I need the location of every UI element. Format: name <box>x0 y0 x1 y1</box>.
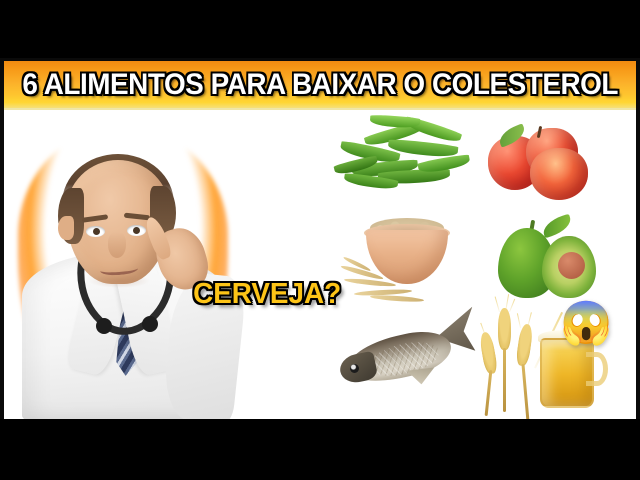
food-label-oats: Aveia <box>340 208 341 209</box>
food-label-beer: Cerveja <box>474 302 475 303</box>
food-label-okra: Quiabo <box>334 116 335 117</box>
letterbox-bottom-bar <box>0 419 640 480</box>
food-label-fish: Peixe <box>334 306 335 307</box>
food-label-avocado: Abacate <box>494 214 495 215</box>
shocked-face-emoji: 😱 <box>560 302 612 344</box>
youtube-thumbnail: 6 ALIMENTOS PARA BAIXAR O COLESTEROL <box>0 0 640 480</box>
food-item-oats: Aveia <box>340 208 456 306</box>
avocado-leaf-icon <box>540 214 573 238</box>
food-item-apples: Maca <box>486 118 598 198</box>
beer-mug-handle <box>586 352 608 386</box>
food-item-okra: Quiabo <box>334 116 474 198</box>
page-title: 6 ALIMENTOS PARA BAIXAR O COLESTEROL <box>22 68 618 102</box>
thumbnail-stage: Clinica saude Dr. Diego Lima Cardiologis… <box>4 110 636 419</box>
avocado-pit <box>558 252 585 279</box>
food-item-fish: Peixe <box>334 306 478 400</box>
food-collage: Quiabo Maca Aveia <box>4 110 636 419</box>
food-item-beer: 😱 Cerveja <box>474 302 624 414</box>
food-label-apples: Maca <box>486 118 487 119</box>
letterbox-top-bar <box>0 0 640 58</box>
food-item-avocado: Abacate <box>494 214 598 306</box>
title-banner: 6 ALIMENTOS PARA BAIXAR O COLESTEROL <box>4 58 636 110</box>
fish-eye <box>350 364 359 373</box>
